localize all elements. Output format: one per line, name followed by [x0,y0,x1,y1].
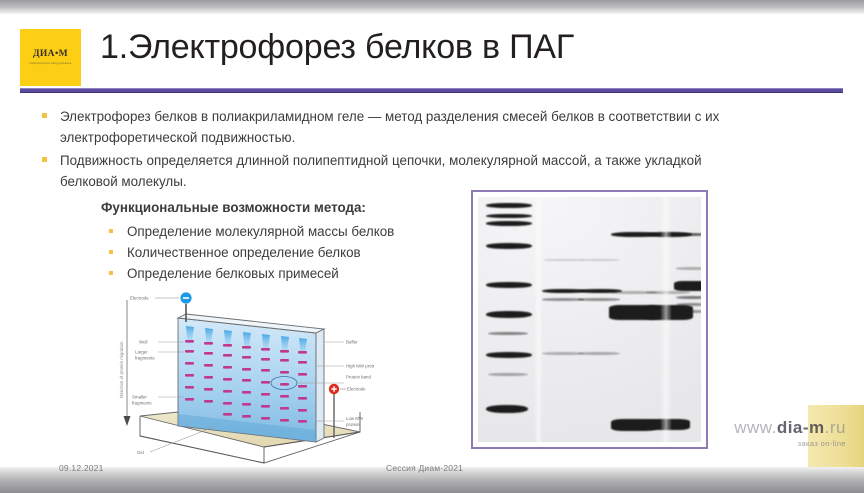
bullet-square-icon [109,229,113,233]
gel-band [486,311,532,318]
gel-photo [478,197,701,442]
bullet-square-icon [109,250,113,254]
gel-band [578,298,620,301]
features-heading: Функциональные возможности метода: [101,198,461,218]
title-divider [20,88,843,93]
gel-band [676,310,701,313]
svg-text:Buffer: Buffer [346,340,358,345]
bullet-square-icon [109,271,113,275]
gel-band [580,259,620,261]
svg-text:Well: Well [139,340,147,345]
svg-text:Smaller: Smaller [132,395,147,400]
gel-band [676,233,701,236]
gel-band [674,281,701,291]
bullet-square-icon [42,113,47,118]
gel-band [486,282,532,288]
svg-text:Low MW: Low MW [346,416,364,421]
bullet-list: Электрофорез белков в полиакриламидном г… [40,106,760,192]
gel-band [488,332,528,335]
gel-band [486,352,532,358]
feature-item: Определение белковых примесей [101,263,461,284]
brand-accent-block [808,405,864,467]
logo-wordmark: ДИА•М [33,50,68,60]
gel-band [486,405,528,413]
gel-band [578,352,620,355]
svg-text:Electrode: Electrode [130,296,149,301]
bullet-text: Электрофорез белков в полиакриламидном г… [60,109,719,145]
feature-text: Определение молекулярной массы белков [127,224,394,239]
gel-lane-gap [660,197,672,442]
bullet-item: Электрофорез белков в полиакриламидном г… [40,106,760,148]
page-title: 1.Электрофорез белков в ПАГ [100,28,574,67]
gel-photo-frame [471,190,708,449]
gel-band [488,373,528,376]
gel-band [486,214,532,218]
features-block: Функциональные возможности метода: Опред… [101,198,461,284]
video-letterbox-top [0,0,864,14]
gel-lane-gap [534,197,543,442]
svg-text:Protein band: Protein band [346,375,371,380]
gel-band [486,243,532,249]
slide-canvas: ДИА•М лабораторное оборудование 1.Электр… [0,0,864,493]
feature-text: Определение белковых примесей [127,266,339,281]
svg-text:Direction of protein migration: Direction of protein migration [119,341,124,398]
feature-text: Количественное определение белков [127,245,361,260]
feature-item: Количественное определение белков [101,242,461,263]
electrophoresis-diagram: Direction of protein migration [118,286,374,472]
gel-band [486,203,532,208]
footer-date: 09.12.2021 [59,463,104,473]
svg-text:fragments: fragments [135,356,155,361]
company-logo: ДИА•М лабораторное оборудование [20,29,81,86]
gel-band [676,303,701,306]
gel-slab [178,314,324,442]
watermark-www: www. [734,418,777,437]
svg-text:fragments: fragments [132,401,152,406]
svg-text:protein: protein [346,422,360,427]
feature-item: Определение молекулярной массы белков [101,221,461,242]
bullet-square-icon [42,157,47,162]
footer-session: Сессия Диам-2021 [386,463,463,473]
gel-band [676,296,701,299]
svg-text:Gel: Gel [137,450,144,455]
gel-band [676,267,701,270]
migration-axis: Direction of protein migration [119,300,131,426]
svg-text:Larger: Larger [135,350,148,355]
logo-tagline: лабораторное оборудование [29,62,71,65]
bullet-text: Подвижность определяется длинной полипеп… [60,153,702,189]
svg-text:Electrode: Electrode [347,387,366,392]
gel-band [486,221,532,226]
gel-band [544,259,584,261]
bullet-item: Подвижность определяется длинной полипеп… [40,150,760,192]
svg-text:High MW protein: High MW protein [346,364,374,369]
